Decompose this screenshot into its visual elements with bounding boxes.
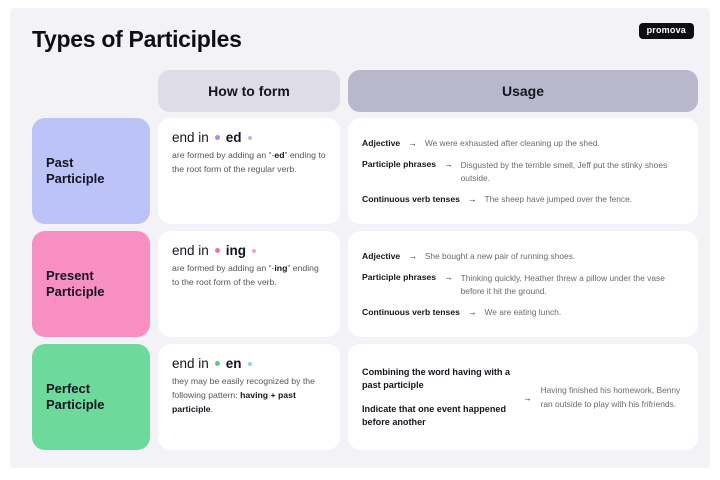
usage-item: Adjective → We were exhausted after clea… [362, 137, 684, 150]
usage-example: Having finished his homework, Benny ran … [541, 384, 684, 410]
arrow-icon: → [514, 393, 541, 403]
usage-item: Participle phrases → Thinking quickly, H… [362, 272, 684, 297]
form-suffix-text: en [226, 356, 242, 371]
form-suffix-line: end in en [172, 356, 326, 371]
usage-cell-present: Adjective → She bought a new pair of run… [348, 231, 698, 337]
usage-cell-past: Adjective → We were exhausted after clea… [348, 118, 698, 224]
row-label-line2: Participle [46, 284, 105, 299]
page-title: Types of Participles [32, 26, 242, 53]
usage-item: Adjective → She bought a new pair of run… [362, 250, 684, 263]
usage-condition-2: Indicate that one event happened before … [362, 403, 514, 429]
usage-example: We were exhausted after cleaning up the … [425, 137, 600, 150]
form-desc-prefix: are formed by adding an “- [172, 263, 274, 273]
arrow-icon: → [408, 250, 417, 261]
bullet-dot-icon [248, 136, 252, 140]
arrow-icon: → [468, 193, 477, 204]
bullet-dot-icon [252, 249, 256, 253]
usage-label: Continuous verb tenses [362, 306, 460, 317]
usage-cell-perfect: Combining the word having with a past pa… [348, 344, 698, 450]
form-lead-text: end in [172, 243, 209, 258]
usage-example: We are eating lunch. [484, 306, 561, 319]
arrow-icon: → [468, 306, 477, 317]
usage-label: Continuous verb tenses [362, 193, 460, 204]
usage-example: Thinking quickly, Heather threw a pillow… [461, 272, 684, 297]
usage-condition-blocks: Combining the word having with a past pa… [362, 366, 514, 430]
row-label-line2: Participle [46, 397, 105, 412]
usage-condition-1: Combining the word having with a past pa… [362, 366, 514, 392]
usage-item: Continuous verb tenses → The sheep have … [362, 193, 684, 206]
usage-label: Adjective [362, 137, 400, 148]
usage-example: The sheep have jumped over the fence. [484, 193, 632, 206]
bullet-dot-icon [215, 248, 220, 253]
column-header-usage: Usage [348, 70, 698, 112]
arrow-icon: → [444, 272, 453, 283]
form-cell-past: end in ed are formed by adding an “-ed” … [158, 118, 340, 224]
form-cell-present: end in ing are formed by adding an “-ing… [158, 231, 340, 337]
table-row: Perfect Participle end in en they may be… [32, 344, 698, 450]
row-label-line2: Participle [46, 171, 105, 186]
usage-label: Adjective [362, 250, 400, 261]
table-row: Present Participle end in ing are formed… [32, 231, 698, 337]
arrow-icon: → [408, 137, 417, 148]
form-cell-perfect: end in en they may be easily recognized … [158, 344, 340, 450]
usage-label: Participle phrases [362, 272, 436, 283]
form-description: are formed by adding an “-ing” ending to… [172, 261, 326, 289]
promova-logo: promova [639, 23, 694, 39]
usage-split-layout: Combining the word having with a past pa… [362, 366, 684, 430]
column-headers: How to form Usage [10, 70, 710, 112]
arrow-icon: → [444, 159, 453, 170]
column-header-how-to-form: How to form [158, 70, 340, 112]
row-label-present-participle: Present Participle [32, 231, 150, 337]
form-lead-text: end in [172, 130, 209, 145]
infographic-canvas: Types of Participles promova How to form… [10, 8, 710, 468]
form-desc-prefix: are formed by adding an “- [172, 150, 274, 160]
form-description: are formed by adding an “-ed” ending to … [172, 148, 326, 176]
usage-item: Participle phrases → Disgusted by the te… [362, 159, 684, 184]
form-desc-suffix: . [211, 404, 213, 414]
bullet-dot-icon [248, 362, 252, 366]
row-label-perfect-participle: Perfect Participle [32, 344, 150, 450]
form-desc-bold: ing [274, 263, 287, 273]
row-label-line1: Present [46, 268, 94, 283]
header: Types of Participles promova [10, 8, 710, 64]
participle-rows: Past Participle end in ed are formed by … [10, 118, 710, 450]
form-suffix-line: end in ed [172, 130, 326, 145]
table-row: Past Participle end in ed are formed by … [32, 118, 698, 224]
form-description: they may be easily recognized by the fol… [172, 374, 326, 416]
row-label-line1: Perfect [46, 381, 90, 396]
form-suffix-text: ing [226, 243, 246, 258]
form-suffix-line: end in ing [172, 243, 326, 258]
usage-label: Participle phrases [362, 159, 436, 170]
infographic-page: Types of Participles promova How to form… [0, 0, 720, 480]
row-label-past-participle: Past Participle [32, 118, 150, 224]
form-desc-bold: ed [274, 150, 284, 160]
form-suffix-text: ed [226, 130, 242, 145]
bullet-dot-icon [215, 361, 220, 366]
row-label-line1: Past [46, 155, 73, 170]
usage-example: Disgusted by the terrible smell, Jeff pu… [461, 159, 684, 184]
usage-item: Continuous verb tenses → We are eating l… [362, 306, 684, 319]
bullet-dot-icon [215, 135, 220, 140]
usage-example: She bought a new pair of running shoes. [425, 250, 575, 263]
form-lead-text: end in [172, 356, 209, 371]
